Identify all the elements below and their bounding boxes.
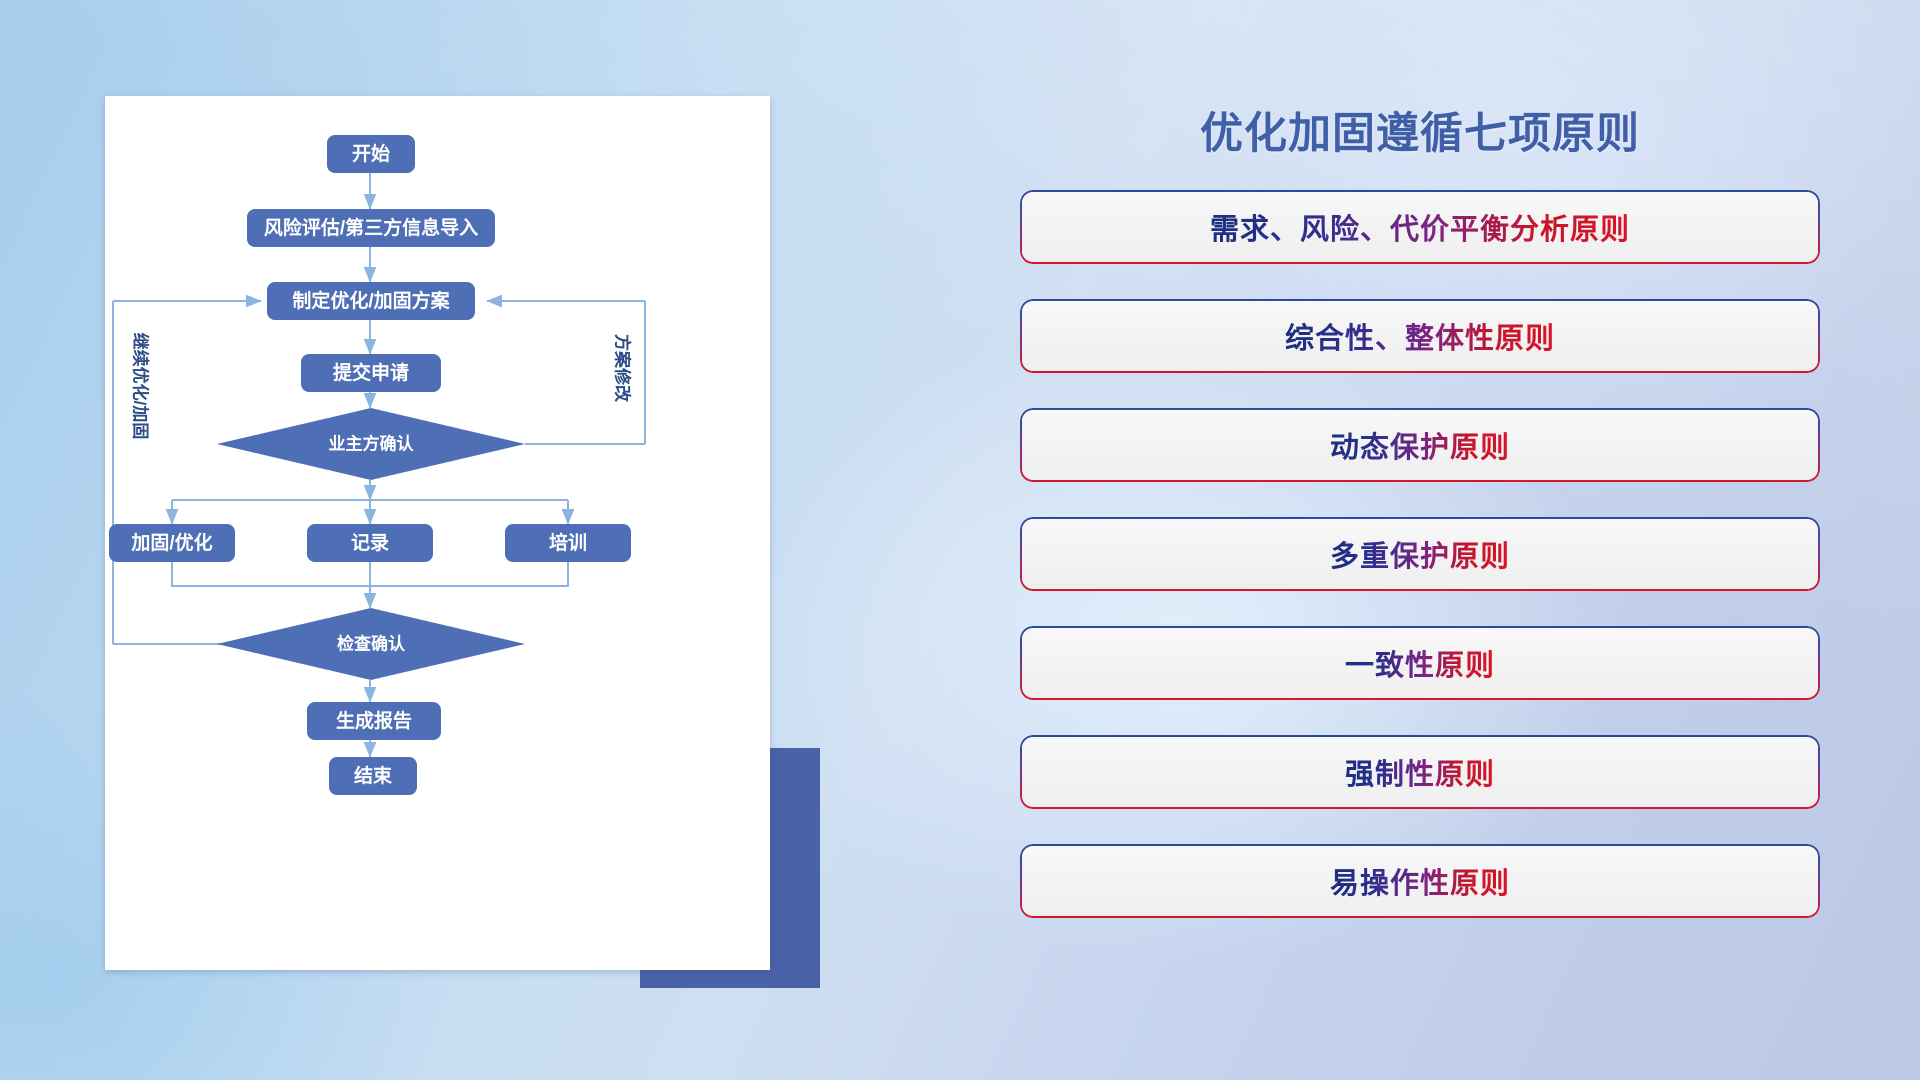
node-generate-report[interactable]: 生成报告 <box>307 702 441 740</box>
node-owner-confirm-label: 业主方确认 <box>329 433 415 453</box>
list-item-label: 易操作性原则 <box>1330 860 1510 902</box>
list-item-label: 强制性原则 <box>1345 751 1495 793</box>
list-item[interactable]: 强制性原则 <box>1020 735 1820 809</box>
node-risk-assessment-label: 风险评估/第三方信息导入 <box>264 216 478 239</box>
node-owner-confirm[interactable]: 业主方确认 <box>217 408 525 480</box>
list-item-inner: 易操作性原则 <box>1022 846 1818 916</box>
list-item-inner: 需求、风险、代价平衡分析原则 <box>1022 192 1818 262</box>
principles-list: 需求、风险、代价平衡分析原则 综合性、整体性原则 动态保护原则 多重保护原则 一… <box>1020 190 1820 918</box>
node-training[interactable]: 培训 <box>505 524 631 562</box>
node-submit-application-label: 提交申请 <box>333 361 409 384</box>
principles-panel: 优化加固遵循七项原则 需求、风险、代价平衡分析原则 综合性、整体性原则 动态保护… <box>1020 86 1820 1046</box>
node-reinforce-optimize[interactable]: 加固/优化 <box>109 524 235 562</box>
node-record[interactable]: 记录 <box>307 524 433 562</box>
list-item-inner: 综合性、整体性原则 <box>1022 301 1818 371</box>
node-risk-assessment[interactable]: 风险评估/第三方信息导入 <box>247 209 495 247</box>
node-record-label: 记录 <box>351 532 389 554</box>
node-reinforce-optimize-label: 加固/优化 <box>130 531 212 554</box>
edge-label-continue-optimize: 继续优化/加固 <box>131 333 151 440</box>
node-check-confirm-label: 检查确认 <box>337 633 406 653</box>
node-make-plan[interactable]: 制定优化/加固方案 <box>267 282 475 320</box>
list-item[interactable]: 一致性原则 <box>1020 626 1820 700</box>
edge-label-plan-revision: 方案修改 <box>613 334 633 403</box>
list-item[interactable]: 动态保护原则 <box>1020 408 1820 482</box>
list-item-inner: 一致性原则 <box>1022 628 1818 698</box>
node-make-plan-label: 制定优化/加固方案 <box>292 289 450 312</box>
list-item-label: 多重保护原则 <box>1330 533 1510 575</box>
node-submit-application[interactable]: 提交申请 <box>301 354 441 392</box>
flowchart-card: 开始 风险评估/第三方信息导入 制定优化/加固方案 提交申请 业主方确认 加固/… <box>105 96 770 970</box>
node-start[interactable]: 开始 <box>327 135 415 173</box>
node-end-label: 结束 <box>354 764 393 787</box>
list-item-inner: 动态保护原则 <box>1022 410 1818 480</box>
list-item-label: 动态保护原则 <box>1330 424 1510 466</box>
node-training-label: 培训 <box>549 531 587 554</box>
flowchart-diagram: 开始 风险评估/第三方信息导入 制定优化/加固方案 提交申请 业主方确认 加固/… <box>105 96 770 970</box>
node-check-confirm[interactable]: 检查确认 <box>217 608 525 680</box>
list-item[interactable]: 需求、风险、代价平衡分析原则 <box>1020 190 1820 264</box>
list-item-inner: 强制性原则 <box>1022 737 1818 807</box>
node-end[interactable]: 结束 <box>329 757 417 795</box>
node-start-label: 开始 <box>352 142 390 165</box>
node-generate-report-label: 生成报告 <box>336 709 412 732</box>
page-title: 优化加固遵循七项原则 <box>1020 86 1820 164</box>
list-item-inner: 多重保护原则 <box>1022 519 1818 589</box>
list-item[interactable]: 多重保护原则 <box>1020 517 1820 591</box>
list-item[interactable]: 易操作性原则 <box>1020 844 1820 918</box>
list-item[interactable]: 综合性、整体性原则 <box>1020 299 1820 373</box>
list-item-label: 需求、风险、代价平衡分析原则 <box>1210 206 1630 248</box>
list-item-label: 综合性、整体性原则 <box>1285 315 1555 357</box>
list-item-label: 一致性原则 <box>1345 642 1495 684</box>
